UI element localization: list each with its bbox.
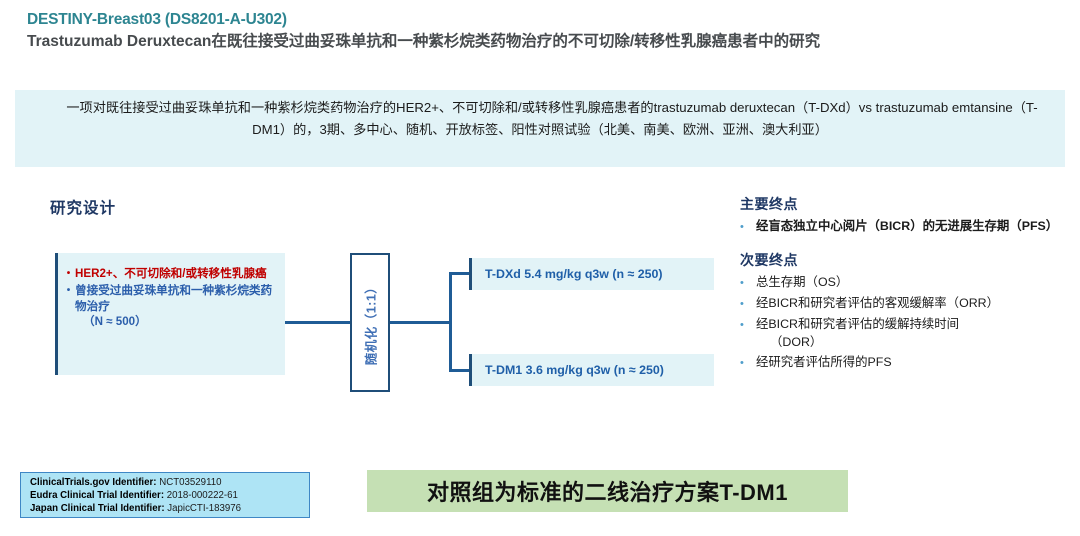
secondary-endpoint-item: • 总生存期（OS） xyxy=(740,274,1075,292)
study-title-rest: 在既往接受过曲妥珠单抗和一种紫杉烷类药物治疗的不可切除/转移性乳腺癌患者中的研究 xyxy=(211,33,820,50)
secondary-endpoint-label: 经研究者评估所得的PFS xyxy=(756,354,1075,372)
secondary-endpoint-item: • 经BICR和研究者评估的客观缓解率（ORR） xyxy=(740,295,1075,313)
connector-line-to-arm-tdm1 xyxy=(449,369,471,372)
treatment-arm-tdm1: T-DM1 3.6 mg/kg q3w (n ≈ 250) xyxy=(469,354,714,386)
trial-identifier-label: Eudra Clinical Trial Identifier: xyxy=(30,490,164,501)
connector-line-randomization-to-split xyxy=(389,321,452,324)
secondary-endpoint-label: 经BICR和研究者评估的缓解持续时间 （DOR） xyxy=(756,316,1075,351)
eligibility-item: • 曾接受过曲妥珠单抗和一种紫杉烷类药物治疗 （N ≈ 500） xyxy=(62,283,277,330)
trial-identifier-value: NCT03529110 xyxy=(159,477,221,488)
primary-endpoint-heading: 主要终点 xyxy=(740,194,1075,214)
study-summary-box: 一项对既往接受过曲妥珠单抗和一种紫杉烷类药物治疗的HER2+、不可切除和/或转移… xyxy=(15,90,1065,167)
bullet-icon: • xyxy=(740,274,756,292)
treatment-arm-tdm1-label: T-DM1 3.6 mg/kg q3w (n ≈ 250) xyxy=(485,363,664,377)
secondary-endpoint-label: 总生存期（OS） xyxy=(756,274,1075,292)
conclusion-text: 对照组为标准的二线治疗方案T-DM1 xyxy=(427,475,788,507)
bullet-icon: • xyxy=(62,266,75,282)
secondary-endpoint-item: • 经BICR和研究者评估的缓解持续时间 （DOR） xyxy=(740,316,1075,351)
bullet-icon: • xyxy=(740,316,756,351)
study-full-title: Trastuzumab Deruxtecan在既往接受过曲妥珠单抗和一种紫杉烷类… xyxy=(27,31,1047,52)
bullet-icon: • xyxy=(740,354,756,372)
treatment-arm-tdxd: T-DXd 5.4 mg/kg q3w (n ≈ 250) xyxy=(469,258,714,290)
conclusion-banner: 对照组为标准的二线治疗方案T-DM1 xyxy=(367,470,848,512)
eligibility-sample-size: （N ≈ 500） xyxy=(75,314,277,330)
title-block: DESTINY-Breast03 (DS8201-A-U302) Trastuz… xyxy=(27,10,1057,52)
connector-line-eligibility-to-randomization xyxy=(285,321,351,324)
secondary-endpoint-label: 经BICR和研究者评估的客观缓解率（ORR） xyxy=(756,295,1075,313)
trial-identifier-row: ClinicalTrials.gov Identifier: NCT035291… xyxy=(30,477,309,490)
endpoints-panel: 主要终点 • 经盲态独立中心阅片（BICR）的无进展生存期（PFS） 次要终点 … xyxy=(740,194,1075,375)
primary-endpoint-label: 经盲态独立中心阅片（BICR）的无进展生存期（PFS） xyxy=(756,218,1075,236)
trial-identifier-row: Japan Clinical Trial Identifier: JapicCT… xyxy=(30,503,309,516)
trial-identifier-row: Eudra Clinical Trial Identifier: 2018-00… xyxy=(30,490,309,503)
bullet-icon: • xyxy=(740,295,756,313)
trial-identifiers-box: ClinicalTrials.gov Identifier: NCT035291… xyxy=(20,472,310,518)
study-title-drug: Trastuzumab Deruxtecan xyxy=(27,33,211,50)
eligibility-criteria-box: • HER2+、不可切除和/或转移性乳腺癌 • 曾接受过曲妥珠单抗和一种紫杉烷类… xyxy=(55,253,285,375)
study-code-title: DESTINY-Breast03 (DS8201-A-U302) xyxy=(27,10,1057,29)
eligibility-item-text: 曾接受过曲妥珠单抗和一种紫杉烷类药物治疗 xyxy=(75,284,272,313)
study-summary-text: 一项对既往接受过曲妥珠单抗和一种紫杉烷类药物治疗的HER2+、不可切除和/或转移… xyxy=(29,97,1051,141)
trial-identifier-label: ClinicalTrials.gov Identifier: xyxy=(30,477,157,488)
primary-endpoint-item: • 经盲态独立中心阅片（BICR）的无进展生存期（PFS） xyxy=(740,218,1075,236)
randomization-label: 随机化（1:1） xyxy=(361,280,380,365)
secondary-endpoint-heading: 次要终点 xyxy=(740,250,1075,270)
secondary-endpoint-abbrev: （DOR） xyxy=(756,334,1075,352)
eligibility-item: • HER2+、不可切除和/或转移性乳腺癌 xyxy=(62,266,277,282)
secondary-endpoint-text: 经BICR和研究者评估的缓解持续时间 xyxy=(756,317,959,331)
secondary-endpoint-item: • 经研究者评估所得的PFS xyxy=(740,354,1075,372)
study-design-heading: 研究设计 xyxy=(50,196,116,218)
eligibility-item-label: HER2+、不可切除和/或转移性乳腺癌 xyxy=(75,266,277,282)
randomization-box: 随机化（1:1） xyxy=(350,253,390,392)
eligibility-item-label: 曾接受过曲妥珠单抗和一种紫杉烷类药物治疗 （N ≈ 500） xyxy=(75,283,277,330)
bullet-icon: • xyxy=(740,218,756,236)
bullet-icon: • xyxy=(62,283,75,330)
trial-identifier-value: JapicCTI-183976 xyxy=(167,503,241,514)
treatment-arm-tdxd-label: T-DXd 5.4 mg/kg q3w (n ≈ 250) xyxy=(485,267,663,281)
trial-identifier-value: 2018-000222-61 xyxy=(167,490,238,501)
connector-line-vertical-split xyxy=(449,272,452,372)
connector-line-to-arm-tdxd xyxy=(449,272,471,275)
trial-identifier-label: Japan Clinical Trial Identifier: xyxy=(30,503,165,514)
